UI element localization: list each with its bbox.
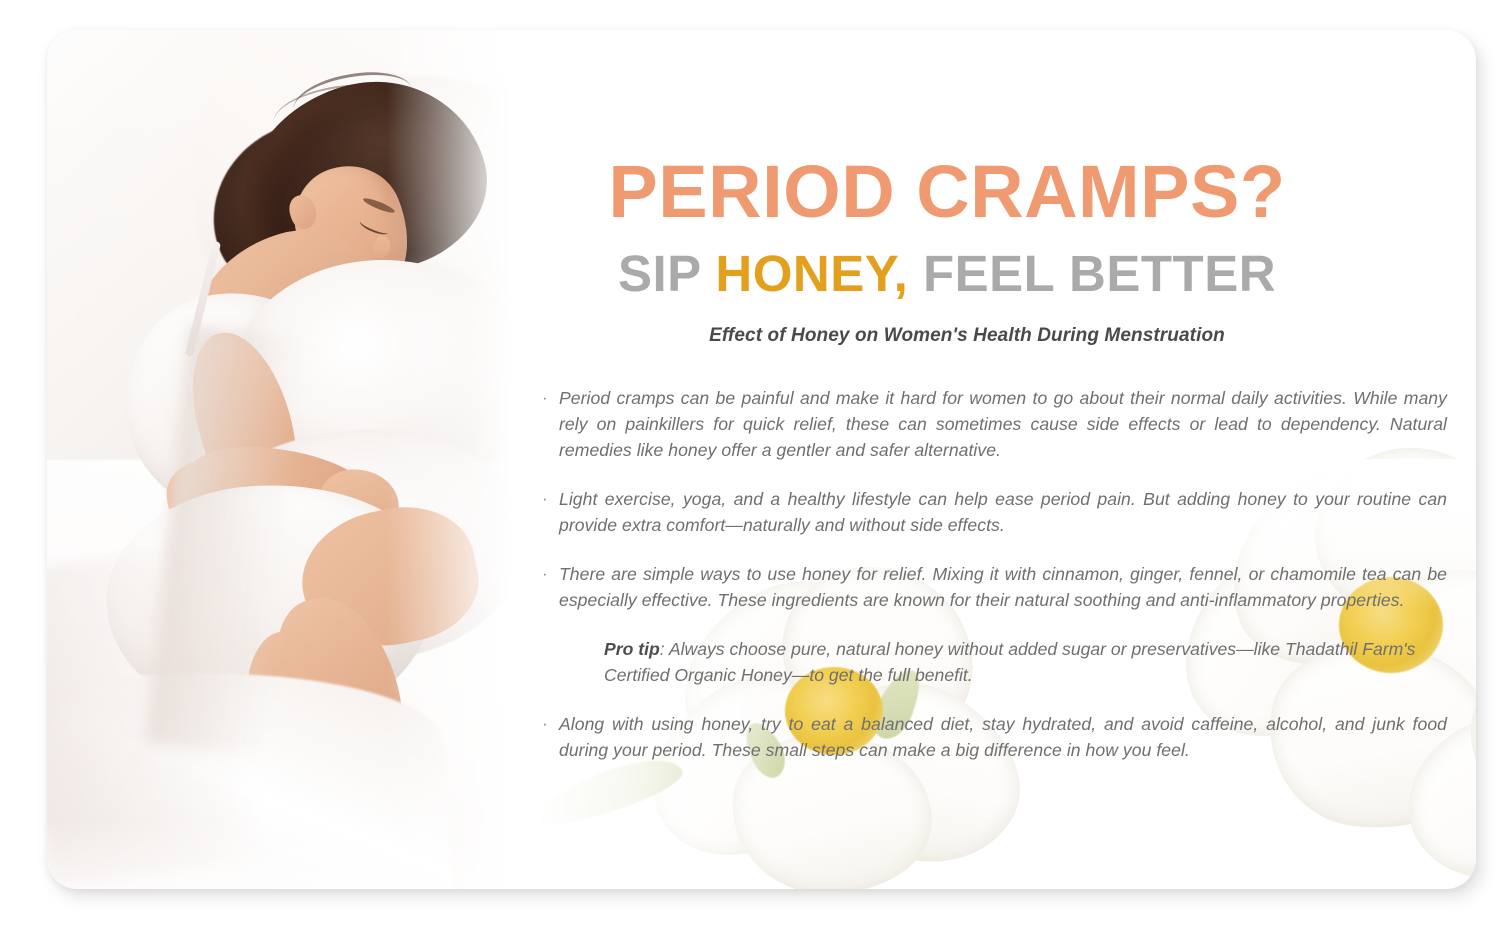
list-item-text: There are simple ways to use honey for r… <box>559 561 1447 613</box>
infographic-canvas: PERIOD CRAMPS? SIP HONEY, FEEL BETTER Ef… <box>0 0 1500 928</box>
list-item-text: Along with using honey, try to eat a bal… <box>559 711 1447 763</box>
pro-tip-text: : Always choose pure, natural honey with… <box>604 639 1415 685</box>
card-surface: PERIOD CRAMPS? SIP HONEY, FEEL BETTER Ef… <box>47 30 1476 889</box>
page-title: PERIOD CRAMPS? <box>502 155 1392 229</box>
list-item: · Light exercise, yoga, and a healthy li… <box>542 486 1447 538</box>
list-item: · There are simple ways to use honey for… <box>542 561 1447 613</box>
bullet-dot-icon: · <box>542 385 559 411</box>
bullet-dot-icon: · <box>542 486 559 512</box>
section-kicker: Effect of Honey on Women's Health During… <box>502 325 1432 347</box>
subtitle-part-2: FEEL BETTER <box>908 245 1276 302</box>
list-item: · Along with using honey, try to eat a b… <box>542 711 1447 763</box>
bullet-dot-icon: · <box>542 711 559 737</box>
infographic-card: PERIOD CRAMPS? SIP HONEY, FEEL BETTER Ef… <box>47 30 1476 889</box>
pro-tip-note: Pro tip: Always choose pure, natural hon… <box>604 636 1442 688</box>
hero-photo-woman-in-bed <box>47 30 547 889</box>
bullet-list: · Period cramps can be painful and make … <box>542 385 1447 786</box>
list-item: · Period cramps can be painful and make … <box>542 385 1447 463</box>
pro-tip-label: Pro tip <box>604 639 660 659</box>
subtitle-part-1: SIP <box>618 245 715 302</box>
text-column: PERIOD CRAMPS? SIP HONEY, FEEL BETTER Ef… <box>502 30 1476 889</box>
list-item-text: Light exercise, yoga, and a healthy life… <box>559 486 1447 538</box>
subtitle-highlight-honey: HONEY, <box>715 245 908 302</box>
page-subtitle: SIP HONEY, FEEL BETTER <box>502 248 1392 299</box>
bullet-dot-icon: · <box>542 561 559 587</box>
list-item-text: Period cramps can be painful and make it… <box>559 385 1447 463</box>
